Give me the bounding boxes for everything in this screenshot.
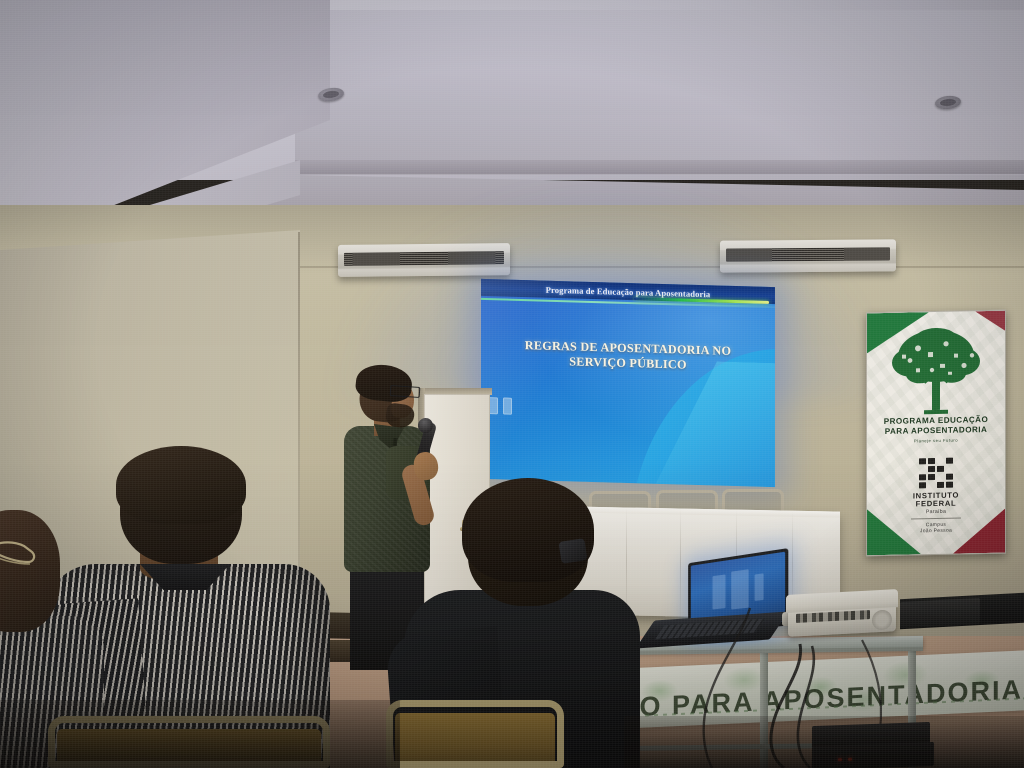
ceiling-drop-panel [295, 10, 1024, 175]
institution-campus: Campus João Pessoa [867, 521, 1005, 536]
projected-slide: Programa de Educação para Aposentadoria … [481, 279, 775, 487]
floor-shadow-right [624, 716, 1024, 768]
tree-icon [884, 325, 988, 419]
glasses-icon [558, 538, 587, 564]
foreground-chair-middle[interactable] [386, 700, 564, 768]
audience-hair [116, 446, 246, 524]
ac-grille [344, 251, 504, 266]
audience-hair [462, 478, 594, 582]
light-switch-icon[interactable] [489, 397, 498, 414]
air-conditioner-left [338, 243, 510, 277]
presenter-hand [412, 450, 440, 481]
ceiling-drop-edge [295, 160, 1024, 174]
institution-name: INSTITUTO FEDERAL [867, 491, 1005, 510]
presentation-room-photo: Programa de Educação para Aposentadoria … [0, 0, 1024, 768]
floor-shadow-left [0, 700, 400, 768]
chair-frame [386, 700, 564, 768]
glasses-icon [390, 385, 421, 398]
slide-header-text: Programa de Educação para Aposentadoria [546, 284, 711, 299]
instituto-federal-logo-icon [919, 458, 953, 489]
air-conditioner-right [720, 239, 896, 272]
glasses-icon [0, 538, 52, 566]
ac-grille [726, 247, 890, 261]
light-switch-icon[interactable] [503, 398, 512, 415]
banner-title: PROGRAMA EDUCAÇÃO PARA APOSENTADORIA [872, 415, 1000, 437]
audience-head [0, 510, 60, 632]
rollup-banner: PROGRAMA EDUCAÇÃO PARA APOSENTADORIA Pla… [866, 310, 1006, 557]
